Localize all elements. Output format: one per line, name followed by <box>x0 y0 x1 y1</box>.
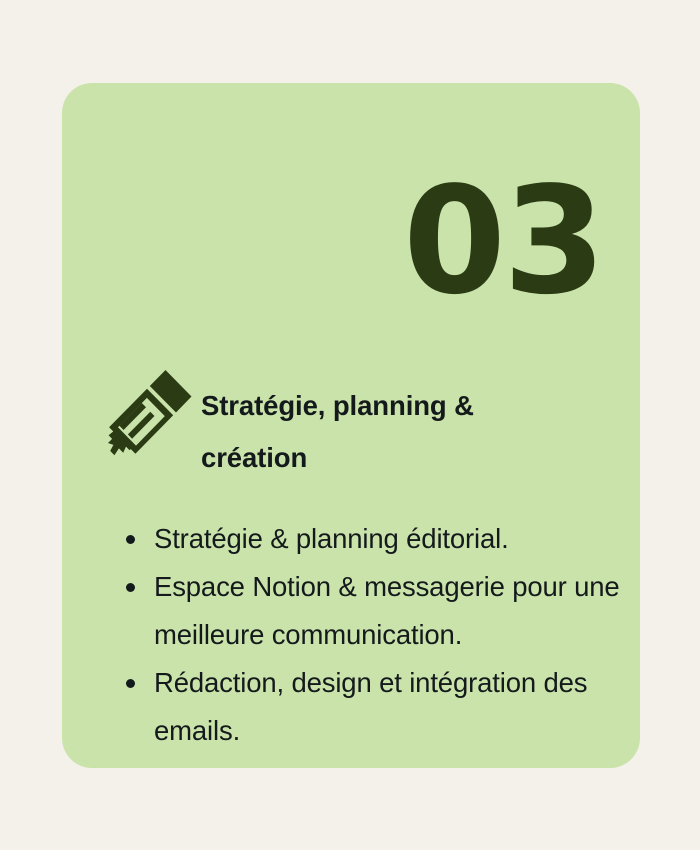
list-item-label: Espace Notion & messagerie pour une meil… <box>154 571 620 650</box>
page-root: 03 Stratégie, p <box>0 0 700 850</box>
service-step-card: 03 Stratégie, p <box>62 83 640 768</box>
bullet-icon <box>126 679 135 688</box>
pencil-icon <box>105 366 197 470</box>
bullet-icon <box>126 535 135 544</box>
list-item: Stratégie & planning éditorial. <box>94 515 634 563</box>
card-title: Stratégie, planning & création <box>197 366 576 484</box>
list-item: Espace Notion & messagerie pour une meil… <box>94 563 634 659</box>
card-heading-row: Stratégie, planning & création <box>100 366 610 484</box>
step-number: 03 <box>403 167 603 315</box>
list-item-label: Rédaction, design et intégration des ema… <box>154 667 587 746</box>
list-item-label: Stratégie & planning éditorial. <box>154 523 509 554</box>
list-item: Rédaction, design et intégration des ema… <box>94 659 634 755</box>
bullet-icon <box>126 583 135 592</box>
feature-list: Stratégie & planning éditorial. Espace N… <box>94 515 634 755</box>
